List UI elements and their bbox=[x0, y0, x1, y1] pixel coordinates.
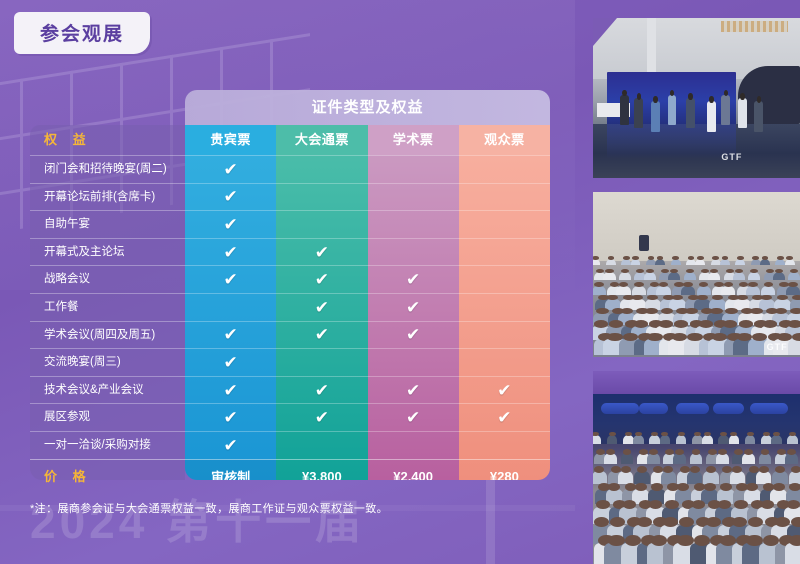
benefit-cell bbox=[368, 431, 459, 459]
photo-registration-hall: GTF bbox=[593, 18, 800, 178]
check-icon: ✔ bbox=[315, 382, 329, 399]
benefit-cell bbox=[368, 238, 459, 266]
benefit-cell bbox=[459, 155, 550, 183]
ticket-column-1[interactable]: 贵宾票✔✔✔✔✔✔✔✔✔✔审核制 bbox=[185, 125, 276, 480]
benefit-row-label: 学术会议(周四及周五) bbox=[30, 321, 185, 349]
benefit-cell: ✔ bbox=[185, 321, 276, 349]
benefit-cell: ✔ bbox=[276, 293, 367, 321]
check-icon: ✔ bbox=[406, 409, 420, 426]
check-icon: ✔ bbox=[315, 326, 329, 343]
benefit-row-label: 工作餐 bbox=[30, 293, 185, 321]
benefit-cell: ✔ bbox=[459, 403, 550, 431]
benefit-row-label: 开幕论坛前排(含席卡) bbox=[30, 183, 185, 211]
check-icon: ✔ bbox=[224, 216, 238, 233]
benefit-cell bbox=[459, 321, 550, 349]
check-icon: ✔ bbox=[315, 409, 329, 426]
check-icon: ✔ bbox=[224, 409, 238, 426]
benefit-row-label: 交流晚宴(周三) bbox=[30, 348, 185, 376]
ticket-column-3[interactable]: 学术票✔✔✔✔✔¥2,400 bbox=[368, 125, 459, 480]
photo-watermark: GTF bbox=[767, 342, 788, 352]
benefit-row-label: 展区参观 bbox=[30, 403, 185, 431]
ticket-column-2[interactable]: 大会通票✔✔✔✔✔✔¥3,800 bbox=[276, 125, 367, 480]
photo-corner-cut bbox=[593, 18, 617, 46]
check-icon: ✔ bbox=[224, 161, 238, 178]
benefit-cell: ✔ bbox=[459, 376, 550, 404]
benefit-cell bbox=[368, 155, 459, 183]
benefit-cell: ✔ bbox=[276, 265, 367, 293]
benefit-cell bbox=[459, 265, 550, 293]
benefit-cell: ✔ bbox=[368, 376, 459, 404]
benefit-cell bbox=[459, 293, 550, 321]
benefits-column-header: 权 益 bbox=[30, 125, 185, 155]
benefit-cell: ✔ bbox=[185, 431, 276, 459]
check-icon: ✔ bbox=[406, 299, 420, 316]
benefit-cell: ✔ bbox=[276, 376, 367, 404]
check-icon: ✔ bbox=[224, 382, 238, 399]
benefit-cell: ✔ bbox=[185, 210, 276, 238]
price-row-label: 价 格 bbox=[30, 459, 185, 493]
benefit-cell bbox=[459, 238, 550, 266]
check-icon: ✔ bbox=[497, 382, 511, 399]
benefits-label-column: 权 益 闭门会和招待晚宴(周二)开幕论坛前排(含席卡)自助午宴开幕式及主论坛战略… bbox=[30, 125, 185, 480]
section-badge: 参会观展 bbox=[14, 12, 150, 54]
photo-exhibition-crowd bbox=[593, 371, 800, 564]
ticket-columns: 贵宾票✔✔✔✔✔✔✔✔✔✔审核制大会通票✔✔✔✔✔✔¥3,800学术票✔✔✔✔✔… bbox=[185, 125, 550, 480]
check-icon: ✔ bbox=[406, 271, 420, 288]
price-cell: ¥2,400 bbox=[368, 459, 459, 480]
check-icon: ✔ bbox=[224, 244, 238, 261]
ticket-column-header: 贵宾票 bbox=[185, 125, 276, 155]
benefit-row-label: 技术会议&产业会议 bbox=[30, 376, 185, 404]
price-cell: 审核制 bbox=[185, 459, 276, 480]
benefit-cell bbox=[276, 348, 367, 376]
benefit-cell: ✔ bbox=[185, 183, 276, 211]
benefit-cell bbox=[459, 210, 550, 238]
check-icon: ✔ bbox=[406, 326, 420, 343]
benefit-cell bbox=[276, 210, 367, 238]
poster-page: 2024 第十一届 参会观展 权 益 闭门会和招待晚宴(周二)开幕论坛前排(含席… bbox=[0, 0, 800, 564]
check-icon: ✔ bbox=[224, 188, 238, 205]
check-icon: ✔ bbox=[497, 409, 511, 426]
photo-watermark: GTF bbox=[721, 152, 742, 162]
bg-faint-banner-text: 2024 第十一届 bbox=[30, 486, 550, 556]
check-icon: ✔ bbox=[315, 299, 329, 316]
benefit-cell: ✔ bbox=[368, 293, 459, 321]
benefit-cell bbox=[368, 183, 459, 211]
price-cell: ¥280 bbox=[459, 459, 550, 480]
benefit-cell: ✔ bbox=[368, 403, 459, 431]
benefit-cell bbox=[368, 348, 459, 376]
benefit-cell: ✔ bbox=[185, 265, 276, 293]
benefit-row-label: 闭门会和招待晚宴(周二) bbox=[30, 155, 185, 183]
ticket-column-header: 观众票 bbox=[459, 125, 550, 155]
check-icon: ✔ bbox=[224, 437, 238, 454]
benefits-table: 权 益 闭门会和招待晚宴(周二)开幕论坛前排(含席卡)自助午宴开幕式及主论坛战略… bbox=[30, 90, 550, 490]
benefit-cell: ✔ bbox=[185, 238, 276, 266]
benefit-cell bbox=[276, 155, 367, 183]
ticket-column-header: 学术票 bbox=[368, 125, 459, 155]
benefit-cell: ✔ bbox=[276, 403, 367, 431]
ticket-columns-block: 证件类型及权益 贵宾票✔✔✔✔✔✔✔✔✔✔审核制大会通票✔✔✔✔✔✔¥3,800… bbox=[185, 90, 550, 480]
ticket-column-4[interactable]: 观众票✔✔¥280 bbox=[459, 125, 550, 480]
check-icon: ✔ bbox=[224, 271, 238, 288]
benefit-row-label: 开幕式及主论坛 bbox=[30, 238, 185, 266]
photo-conference-audience: GTF bbox=[593, 192, 800, 357]
benefit-cell: ✔ bbox=[276, 321, 367, 349]
benefit-cell bbox=[459, 183, 550, 211]
ticket-column-header: 大会通票 bbox=[276, 125, 367, 155]
benefit-cell bbox=[368, 210, 459, 238]
benefit-cell bbox=[459, 431, 550, 459]
benefit-row-label: 一对一洽谈/采购对接 bbox=[30, 431, 185, 459]
benefit-cell: ✔ bbox=[368, 321, 459, 349]
table-footnote: *注：展商参会证与大会通票权益一致，展商工作证与观众票权益一致。 bbox=[30, 500, 550, 516]
check-icon: ✔ bbox=[315, 271, 329, 288]
benefit-cell bbox=[276, 431, 367, 459]
benefit-cell bbox=[459, 348, 550, 376]
check-icon: ✔ bbox=[224, 326, 238, 343]
benefit-cell: ✔ bbox=[368, 265, 459, 293]
table-banner-title: 证件类型及权益 bbox=[185, 90, 550, 125]
benefit-cell: ✔ bbox=[185, 348, 276, 376]
check-icon: ✔ bbox=[224, 354, 238, 371]
benefit-cell: ✔ bbox=[185, 155, 276, 183]
benefit-row-label: 自助午宴 bbox=[30, 210, 185, 238]
photo-strip: GTF GTF bbox=[575, 0, 800, 564]
benefit-cell: ✔ bbox=[185, 403, 276, 431]
benefit-row-label: 战略会议 bbox=[30, 265, 185, 293]
benefit-cell: ✔ bbox=[185, 376, 276, 404]
price-cell: ¥3,800 bbox=[276, 459, 367, 480]
benefit-cell bbox=[185, 293, 276, 321]
check-icon: ✔ bbox=[315, 244, 329, 261]
benefit-cell: ✔ bbox=[276, 238, 367, 266]
check-icon: ✔ bbox=[406, 382, 420, 399]
benefit-cell bbox=[276, 183, 367, 211]
